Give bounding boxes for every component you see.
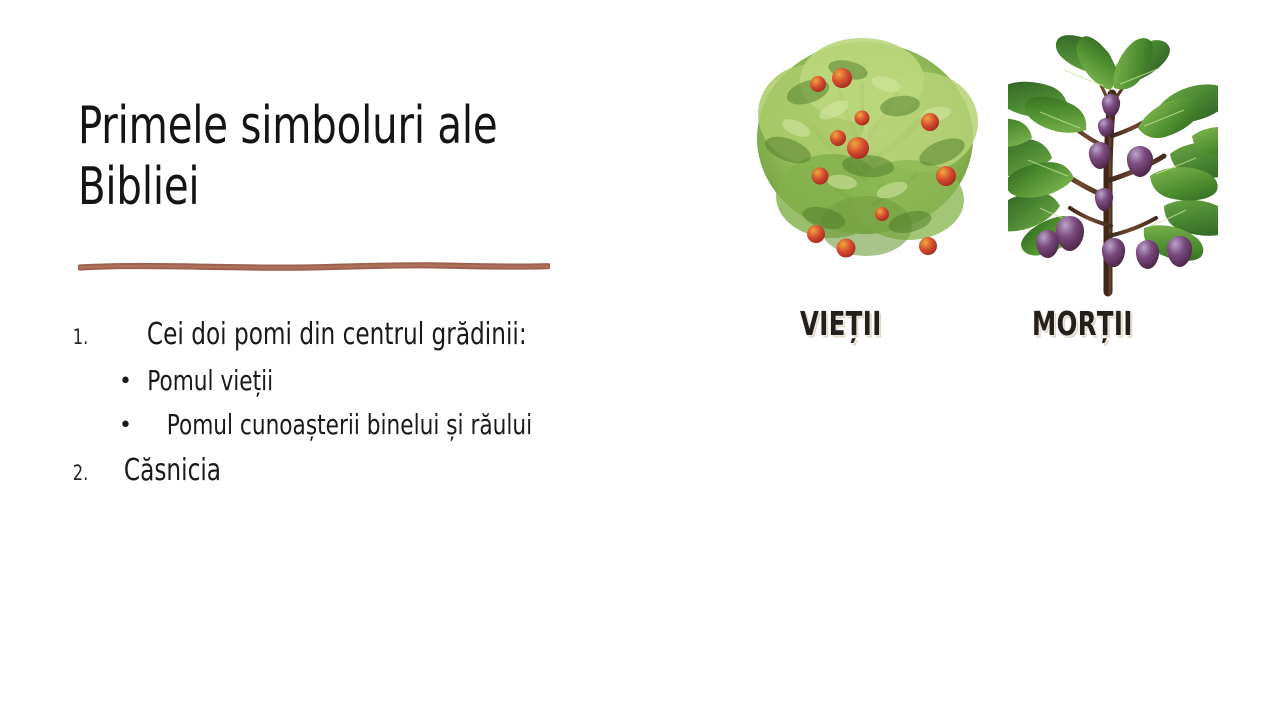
picture-area: VIEȚII MORȚII xyxy=(750,18,1250,338)
bullet-icon: • xyxy=(119,415,137,437)
slide-canvas: Primele simboluri ale Bibliei 1. Cei doi… xyxy=(0,0,1280,720)
sub-list-item-text: Pomul cunoașterii binelui și răului xyxy=(167,403,532,446)
list-marker: 1. xyxy=(68,325,113,349)
caption-vietii: VIEȚII xyxy=(800,304,882,343)
title-block: Primele simboluri ale Bibliei xyxy=(78,96,678,218)
sub-list-item: • Pomul cunoașterii binelui și răului xyxy=(119,403,684,446)
bullet-icon: • xyxy=(119,371,137,393)
list-item: 2. Căsnicia xyxy=(64,448,684,493)
content-list: 1. Cei doi pomi din centrul grădinii: • … xyxy=(64,312,684,495)
fig-tree-image xyxy=(1008,30,1218,298)
list-item-text: Cei doi pomi din centrul grădinii: xyxy=(147,312,527,357)
list-item-text: Căsnicia xyxy=(124,448,221,493)
page-title: Primele simboluri ale Bibliei xyxy=(78,96,594,218)
sub-list-item-text: Pomul vieții xyxy=(147,359,273,402)
list-item: 1. Cei doi pomi din centrul grădinii: xyxy=(64,312,684,357)
apple-tree-image xyxy=(750,18,990,298)
caption-mortii: MORȚII xyxy=(1032,304,1133,343)
title-divider xyxy=(78,258,550,274)
sub-list-item: • Pomul vieții xyxy=(119,359,684,402)
list-marker: 2. xyxy=(68,461,113,485)
